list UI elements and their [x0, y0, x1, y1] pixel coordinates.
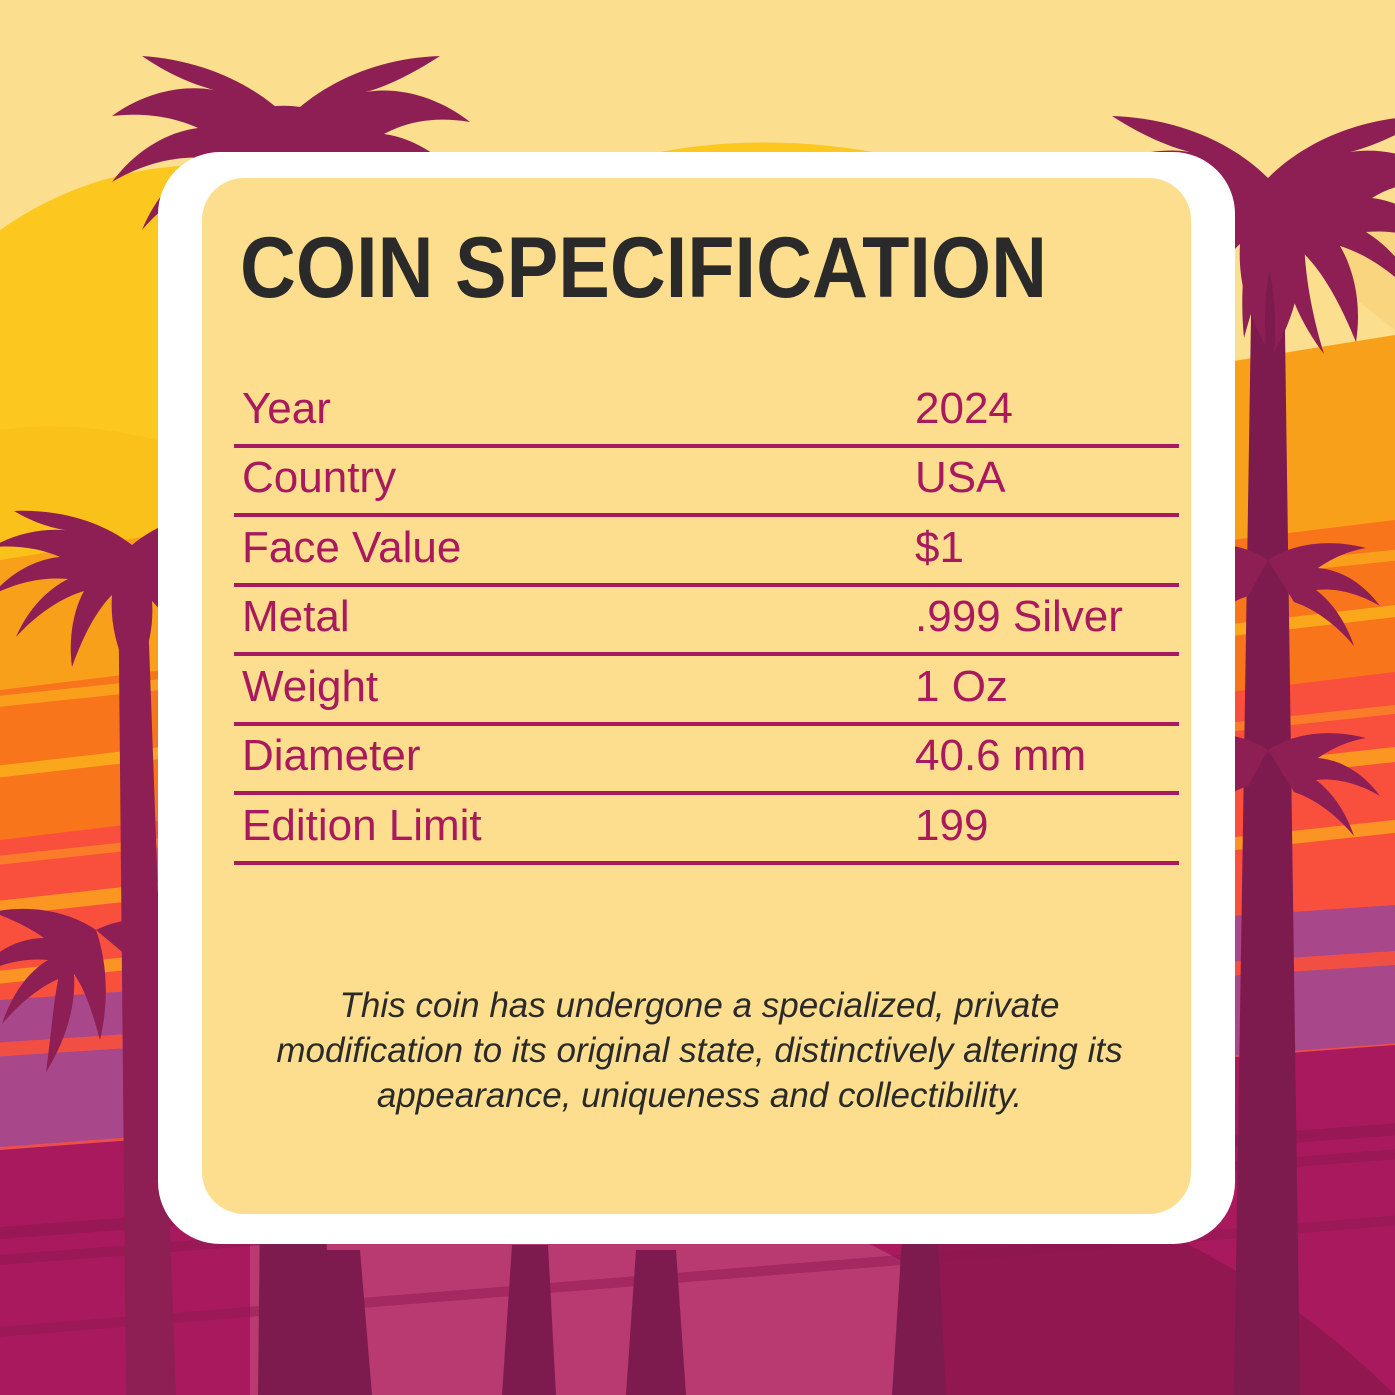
spec-label-year: Year [242, 385, 331, 433]
coin-specification-table: Year 2024 Country USA Face Value $1 Meta… [234, 378, 1179, 865]
spec-value-year: 2024 [915, 385, 1013, 433]
table-row: Weight 1 Oz [234, 656, 1179, 726]
table-row: Year 2024 [234, 378, 1179, 448]
spec-label-face-value: Face Value [242, 524, 461, 572]
spec-label-diameter: Diameter [242, 732, 421, 780]
spec-card-inner: COIN SPECIFICATION Year 2024 Country USA… [202, 178, 1191, 1214]
spec-label-metal: Metal [242, 593, 350, 641]
table-row: Metal .999 Silver [234, 587, 1179, 657]
spec-value-weight: 1 Oz [915, 663, 1008, 711]
table-row: Diameter 40.6 mm [234, 726, 1179, 796]
spec-label-edition-limit: Edition Limit [242, 802, 482, 850]
spec-value-face-value: $1 [915, 524, 964, 572]
spec-card: COIN SPECIFICATION Year 2024 Country USA… [158, 152, 1235, 1244]
poster-canvas: COIN SPECIFICATION Year 2024 Country USA… [0, 0, 1395, 1395]
table-row: Face Value $1 [234, 517, 1179, 587]
spec-value-diameter: 40.6 mm [915, 732, 1086, 780]
table-row: Edition Limit 199 [234, 795, 1179, 865]
spec-label-country: Country [242, 454, 396, 502]
page-title: COIN SPECIFICATION [240, 220, 1059, 316]
spec-value-edition-limit: 199 [915, 802, 988, 850]
spec-value-metal: .999 Silver [915, 593, 1123, 641]
disclaimer-note: This coin has undergone a specialized, p… [262, 983, 1137, 1118]
spec-value-country: USA [915, 454, 1005, 502]
table-row: Country USA [234, 448, 1179, 518]
spec-label-weight: Weight [242, 663, 378, 711]
